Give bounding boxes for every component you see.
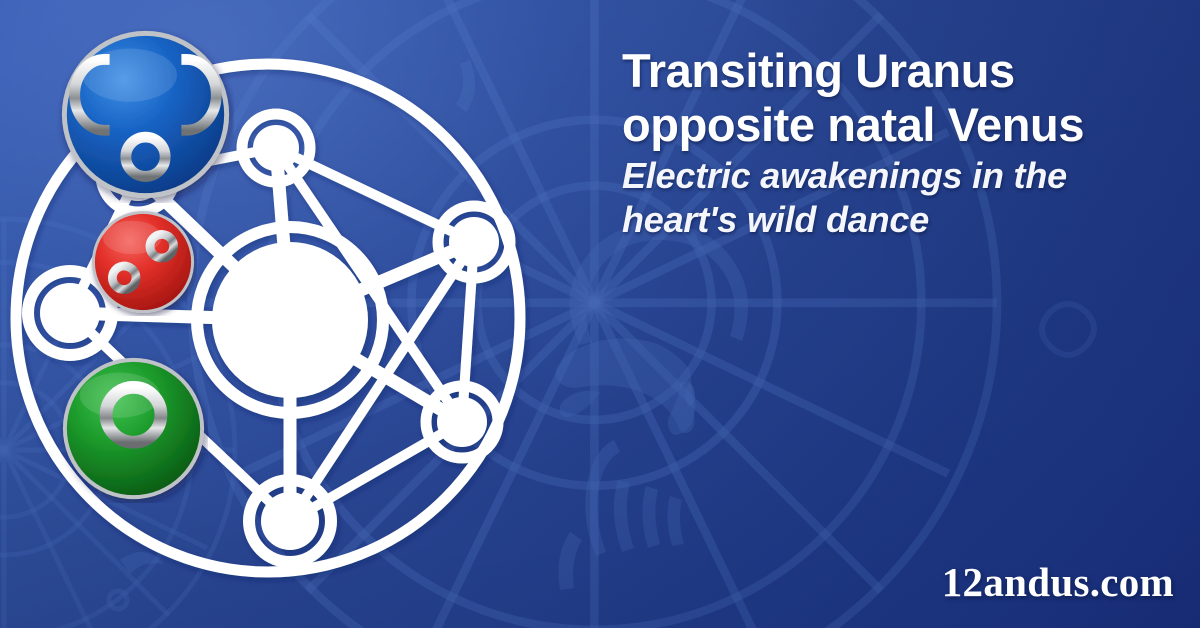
subhead-line-1: Electric awakenings in the — [622, 155, 1067, 196]
headline-line-1: Transiting Uranus — [622, 44, 1015, 97]
wheel-center-disc — [212, 242, 368, 398]
node-bottom — [249, 480, 331, 562]
subhead-line-2: heart's wild dance — [622, 199, 929, 240]
page-title: Transiting Uranus opposite natal Venus — [622, 44, 1178, 152]
opposition-aspect-badge — [89, 208, 197, 316]
headline-block: Transiting Uranus opposite natal Venus E… — [622, 44, 1178, 242]
headline-line-2: opposite natal Venus — [622, 98, 1084, 151]
astrology-banner: Transiting Uranus opposite natal Venus E… — [0, 0, 1200, 628]
uranus-badge — [57, 26, 234, 203]
site-brand[interactable]: 12andus.com — [942, 558, 1174, 606]
venus-badge — [59, 354, 208, 503]
page-subtitle: Electric awakenings in the heart's wild … — [622, 154, 1178, 242]
